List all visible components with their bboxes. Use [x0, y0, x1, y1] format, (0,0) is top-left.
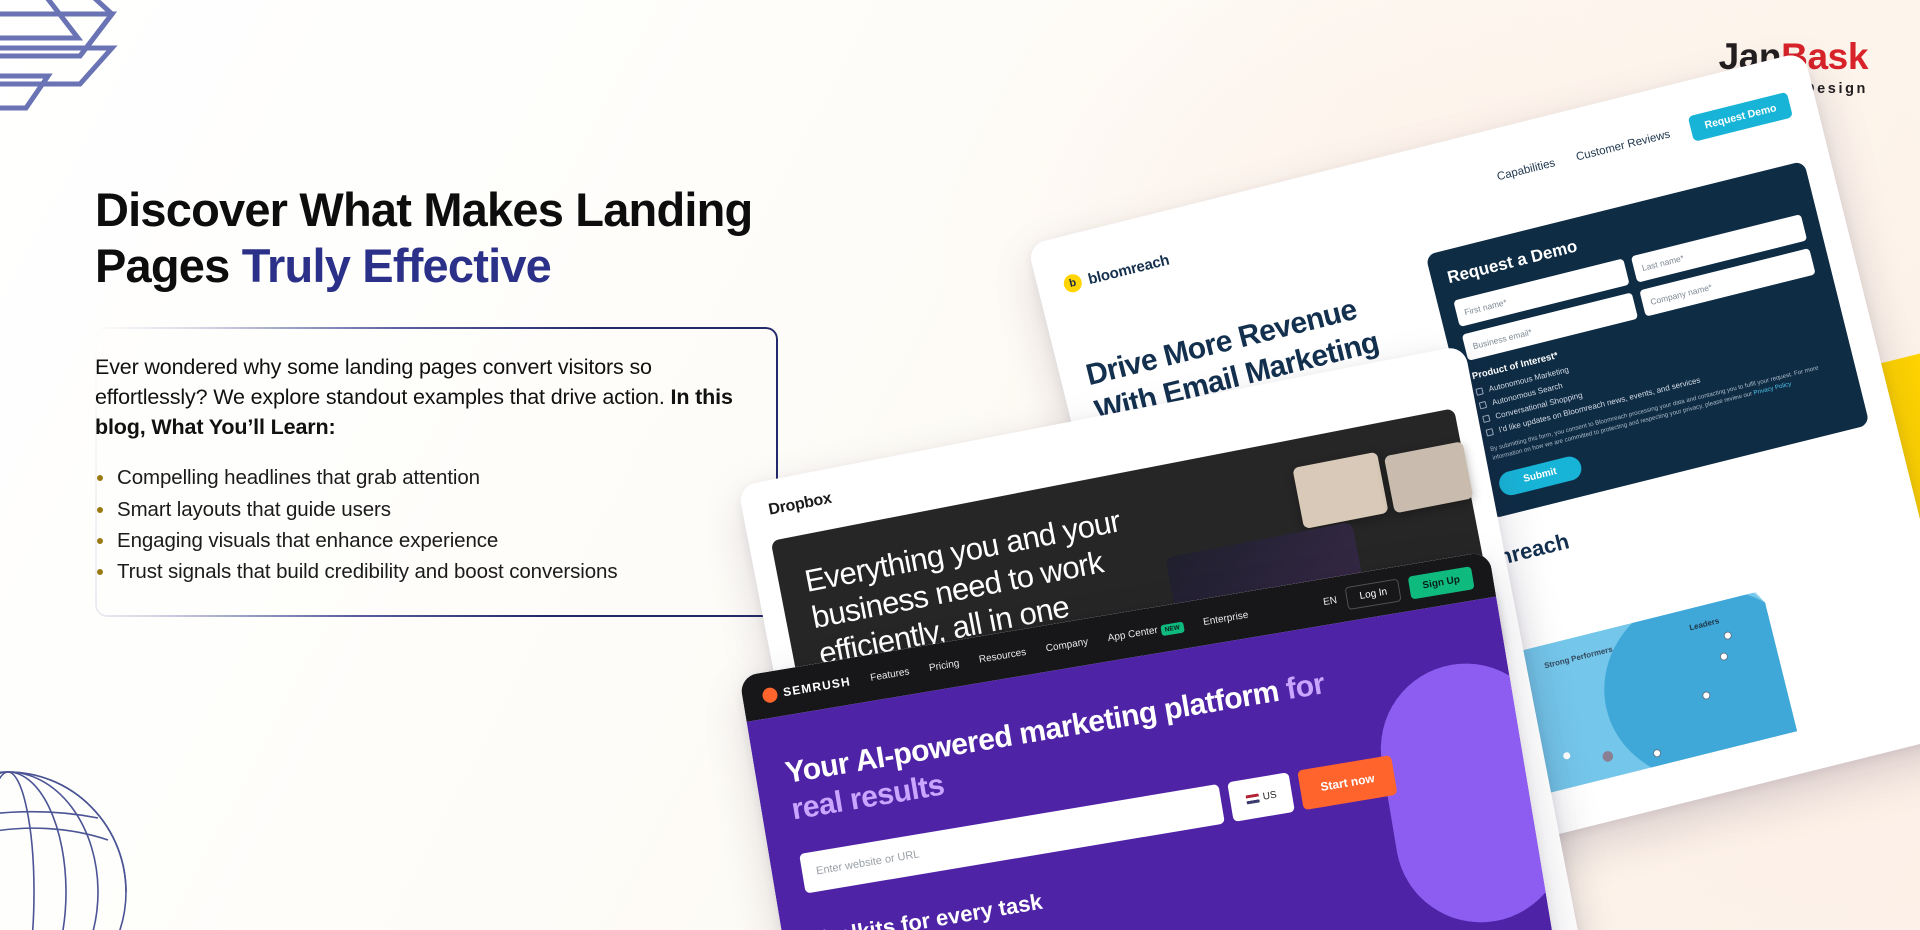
country-selector: US: [1228, 772, 1296, 822]
checkbox-label: Autonomous Marketing: [1488, 365, 1570, 394]
semrush-logo-text: SEMRUSH: [782, 674, 852, 699]
business-email-field: Business email*: [1462, 292, 1638, 361]
hero-content: Discover What Makes Landing Pages Truly …: [95, 182, 795, 617]
form-row: Business email* Company name*: [1462, 248, 1816, 361]
first-name-field: First name*: [1453, 258, 1629, 327]
dropbox-header: Dropbox: [738, 345, 1476, 545]
checkbox-option: Conversational Shopping: [1482, 329, 1832, 424]
media-thumbnail: [1321, 599, 1415, 674]
semrush-mark-icon: [761, 686, 778, 703]
page-title: Discover What Makes Landing Pages Truly …: [95, 182, 795, 295]
request-demo-form: Request a Demo First name* Last name* Bu…: [1425, 161, 1869, 519]
takeaway-list: Compelling headlines that grab attention…: [95, 462, 748, 587]
checkbox-option: I'd like updates on Bloomreach news, eve…: [1485, 342, 1835, 437]
bloomreach-logo: b bloomreach: [1062, 251, 1171, 295]
company-logo-freshdirect: freshdirect: [1289, 632, 1351, 662]
bloomreach-header: b bloomreach Capabilities Customer Revie…: [1027, 52, 1826, 339]
wave-quarter: Q3 2024: [1174, 545, 1901, 733]
nav-item-pricing: Pricing: [928, 658, 960, 674]
bloomreach-landing-page-card: b bloomreach Capabilities Customer Revie…: [1027, 52, 1920, 925]
semrush-nav-actions: EN Log In Sign Up: [1321, 566, 1474, 614]
dropbox-footer-section: Included in one plan Securely collaborat…: [810, 718, 1550, 928]
semrush-hero: Your AI-powered marketing platform for r…: [747, 596, 1566, 930]
checkbox-label: Conversational Shopping: [1494, 390, 1583, 420]
company-logo-total-wine: Total Wine: [1191, 657, 1254, 687]
play-icon: [1261, 589, 1278, 609]
website-url-input: Enter website or URL: [799, 784, 1225, 894]
bloomreach-mark-icon: b: [1062, 272, 1084, 294]
dropbox-media-preview: [1145, 441, 1484, 756]
us-flag-icon: [1245, 793, 1259, 804]
logo-jan-text: Jan: [1719, 36, 1782, 77]
media-thumbnail: [1413, 590, 1503, 662]
nav-item-features: Features: [870, 666, 911, 683]
dropbox-foot-body: Securely collaborate on creative media. …: [846, 776, 1525, 923]
nav-item-capabilities: Capabilities: [1496, 157, 1557, 183]
yellow-accent-shape: [1810, 345, 1920, 556]
bloomreach-hero-title: Drive More Revenue With Email Marketing: [1082, 277, 1430, 430]
svg-text:Challengers: Challengers: [1330, 713, 1377, 733]
semrush-search-row: Enter website or URL US Start now: [799, 755, 1397, 893]
bloomreach-nav: Capabilities Customer Reviews Request De…: [1494, 92, 1793, 190]
language-selector: EN: [1322, 594, 1338, 607]
dropbox-landing-page-card: Dropbox Everything you and your business…: [738, 345, 1583, 930]
checkbox-label: I'd like updates on Bloomreach news, eve…: [1498, 375, 1701, 434]
headline-accent-text: Truly Effective: [242, 239, 551, 292]
semrush-logo: SEMRUSH: [761, 674, 852, 704]
callout-lede-regular: Ever wondered why some landing pages con…: [95, 355, 671, 409]
nav-item-resources: Resources: [978, 646, 1027, 665]
bloomreach-hero-body: When you can personalize the content, ca…: [1104, 363, 1448, 502]
company-name-field: Company name*: [1639, 248, 1815, 317]
list-item: Trust signals that build credibility and…: [95, 556, 748, 587]
globe-wireframe-decoration-icon: [0, 762, 188, 930]
log-in-button: Log In: [1345, 578, 1402, 610]
new-badge: NEW: [1160, 621, 1185, 636]
janbask-logo: JanBask Digital Design: [1719, 38, 1868, 97]
dropbox-hero-title: Everything you and your business need to…: [802, 501, 1176, 823]
request-demo-button: Request Demo: [1688, 92, 1793, 142]
semrush-navbar: SEMRUSH Features Pricing Resources Compa…: [739, 551, 1496, 722]
key-takeaways-callout: Ever wondered why some landing pages con…: [95, 327, 778, 617]
svg-text:Contenders: Contenders: [1424, 684, 1470, 704]
media-thumbnail: [1292, 452, 1388, 529]
svg-text:Leaders: Leaders: [1688, 616, 1720, 632]
hero-body-regular: When you can personalize the content, ca…: [1104, 367, 1436, 498]
callout-lede: Ever wondered why some landing pages con…: [95, 353, 748, 443]
list-item: Engaging visuals that enhance experience: [95, 525, 748, 556]
checkbox-label: Autonomous Search: [1491, 381, 1564, 407]
hero-title-white: Your AI-powered marketing platform: [783, 674, 1289, 790]
form-row: First name* Last name*: [1453, 214, 1807, 327]
nav-item-customer-reviews: Customer Reviews: [1575, 129, 1672, 164]
bloomreach-body: Drive More Revenue With Email Marketing …: [1050, 145, 1894, 612]
checkbox-icon: [1479, 401, 1487, 409]
bloomreach-hero: Drive More Revenue With Email Marketing …: [1078, 259, 1474, 605]
companies-title: Innovative companies using Bloomreach: [1150, 450, 1882, 658]
product-of-interest-label: Product of Interest*: [1471, 285, 1821, 382]
logo-subtitle: Digital Design: [1719, 82, 1868, 97]
nav-item-company: Company: [1045, 636, 1089, 654]
headline-line-1: Discover What Makes Landing: [95, 183, 752, 236]
poster-canvas: JanBask Digital Design Discover What Mak…: [0, 0, 1920, 930]
svg-text:Strong Performers: Strong Performers: [1543, 645, 1614, 671]
logo-bask-text: Bask: [1781, 36, 1868, 77]
bloomreach-companies-section: Innovative companies using Bloomreach To…: [1119, 418, 1917, 700]
checkbox-icon: [1482, 415, 1490, 423]
geometric-lines-decoration-icon: [0, 0, 192, 132]
wave-title: THE FORRESTER WAVE™: [1169, 525, 1897, 716]
hero-body-bold: Watch your revenue grow.: [1216, 422, 1370, 473]
video-player-preview: [1165, 522, 1374, 676]
landing-page-collage: b bloomreach Capabilities Customer Revie…: [760, 110, 1920, 930]
last-name-field: Last name*: [1631, 214, 1807, 283]
checkbox-icon: [1485, 428, 1493, 436]
list-item: Smart layouts that guide users: [95, 494, 748, 525]
hero-title-lilac: for real results: [789, 667, 1327, 826]
bloomreach-logo-text: bloomreach: [1086, 251, 1171, 288]
privacy-policy-link: Privacy Policy: [1753, 381, 1792, 397]
company-logo-row: Total Wine freshdirect: [1162, 498, 1892, 694]
wave-subtitle: Email Marketing Service Providers: [1172, 536, 1899, 724]
checkbox-icon: [1475, 387, 1483, 395]
submit-button: Submit: [1497, 454, 1584, 498]
semrush-landing-page-card: SEMRUSH Features Pricing Resources Compa…: [739, 551, 1581, 930]
list-item: Compelling headlines that grab attention: [95, 462, 748, 493]
semrush-hero-title: Your AI-powered marketing platform for r…: [783, 664, 1347, 829]
lilac-blob-decoration: [1368, 651, 1565, 930]
forrester-wave-chart: THE FORRESTER WAVE™ Email Marketing Serv…: [1169, 525, 1920, 910]
toolkits-title: Toolkits for every task: [811, 812, 1506, 930]
country-label: US: [1262, 789, 1278, 802]
form-title: Request a Demo: [1445, 182, 1797, 288]
logo-primary-text: JanBask: [1719, 38, 1868, 75]
media-thumbnail: [1384, 441, 1474, 513]
headline-line-2-plain: Pages: [95, 239, 242, 292]
nav-item-app-center: App CenterNEW: [1107, 620, 1185, 644]
sign-up-button: Sign Up: [1408, 566, 1475, 599]
app-center-label: App Center: [1107, 624, 1159, 643]
toolkit-pill-row: SEO Social Advertising: [818, 853, 1512, 930]
start-now-button: Start now: [1298, 755, 1398, 810]
nav-item-enterprise: Enterprise: [1202, 609, 1249, 627]
checkbox-option: Autonomous Search: [1478, 315, 1828, 410]
dropbox-foot-title: Included in one plan: [840, 745, 1520, 900]
checkbox-option: Autonomous Marketing: [1475, 301, 1825, 396]
dropbox-hero: Everything you and your business need to…: [771, 408, 1515, 855]
form-legal-text: By submitting this form, you consent to …: [1489, 359, 1841, 464]
legal-body: By submitting this form, you consent to …: [1490, 364, 1820, 462]
